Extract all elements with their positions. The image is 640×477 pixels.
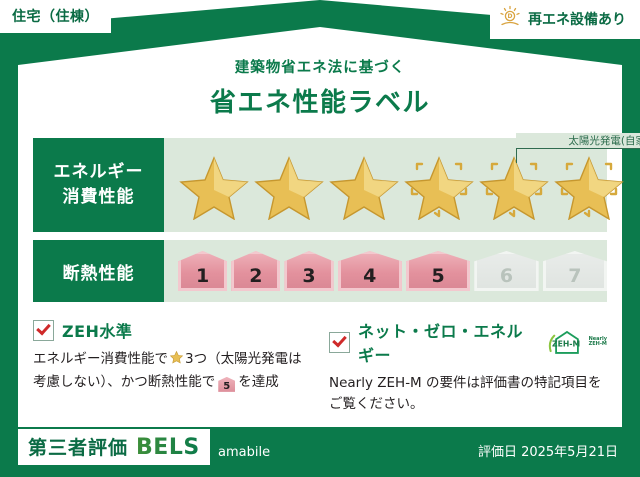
label-title: 建築物省エネ法に基づく 省エネ性能ラベル [0, 56, 640, 119]
criteria-net-zero-energy: ネット・ゼロ・エネルギー ZEH-M Nearly ZEH-M Nearly Z… [329, 318, 607, 410]
solar-sun-icon: D [498, 5, 522, 33]
insulation-level-7: 7 [543, 251, 607, 291]
star-3 [328, 149, 400, 221]
criteria-zeh-standard: ZEH水準 エネルギー消費性能で3つ（太陽光発電は考慮しない）、かつ断熱性能で5… [33, 318, 311, 410]
insulation-level-1: 1 [178, 251, 227, 291]
evaluation-date: 評価日 2025年5月21日 [478, 441, 618, 460]
insulation-row-label: 断熱性能 [33, 240, 164, 302]
energy-label-line1: エネルギー [54, 160, 144, 185]
insulation-scale: 1234567 [164, 240, 607, 302]
energy-row-label: エネルギー 消費性能 [33, 138, 164, 232]
energy-performance-label: 住宅（住棟） D 再エネ設備あり 建築物省エネ法に基づく 省エネ性能ラベル エネ… [0, 0, 640, 477]
svg-text:D: D [508, 13, 513, 20]
solar-bracket [516, 148, 640, 163]
insulation-level-5: 5 [406, 251, 470, 291]
net-zero-header: ネット・ゼロ・エネルギー ZEH-M Nearly ZEH-M [329, 318, 607, 366]
building-type-tag: 住宅（住棟） [0, 0, 111, 33]
svg-text:ZEH-M: ZEH-M [552, 340, 580, 349]
insulation-row-body: 1234567 [164, 240, 607, 302]
zeh-m-logo-sub2: ZEH-M [589, 342, 607, 347]
net-zero-checkbox-icon [329, 332, 350, 353]
title-subtitle: 建築物省エネ法に基づく [0, 56, 640, 77]
zeh-m-logo-icon: ZEH-M Nearly ZEH-M [547, 329, 607, 355]
zeh-standard-title: ZEH水準 [62, 318, 132, 342]
insulation-label-text: 断熱性能 [63, 259, 135, 284]
criteria-sections: ZEH水準 エネルギー消費性能で3つ（太陽光発電は考慮しない）、かつ断熱性能で5… [33, 318, 607, 410]
star-4 [403, 149, 475, 221]
net-zero-body: Nearly ZEH-M の要件は評価書の特記項目をご覧ください。 [329, 373, 607, 415]
star-2 [253, 149, 325, 221]
energy-consumption-row: エネルギー 消費性能 [33, 138, 607, 232]
title-main: 省エネ性能ラベル [0, 82, 640, 119]
insulation-badge-inline: 5 [218, 377, 235, 392]
renewable-equipment-tag: D 再エネ設備あり [490, 0, 640, 39]
energy-label-line2: 消費性能 [63, 185, 135, 210]
net-zero-title: ネット・ゼロ・エネルギー [358, 318, 535, 366]
zeh-standard-checkbox-icon [33, 320, 54, 341]
insulation-level-2: 2 [231, 251, 280, 291]
owner-name: amabile [218, 445, 270, 460]
energy-row-body: 太陽光発電(自家消費)分 [164, 138, 607, 232]
solar-bracket-label: 太陽光発電(自家消費)分 [516, 133, 640, 148]
zeh-body-part1: エネルギー消費性能で [33, 351, 168, 367]
star-1 [178, 149, 250, 221]
zeh-standard-header: ZEH水準 [33, 318, 311, 342]
third-party-label: 第三者評価 [28, 433, 128, 460]
insulation-row: 断熱性能 1234567 [33, 240, 607, 302]
bels-footer-box: 第三者評価 BELS [18, 429, 210, 465]
insulation-level-4: 4 [338, 251, 402, 291]
insulation-level-3: 3 [284, 251, 333, 291]
insulation-level-6: 6 [474, 251, 538, 291]
renewable-tag-label: 再エネ設備あり [528, 9, 626, 29]
star-icon [169, 350, 184, 372]
zeh-body-part3: を達成 [238, 374, 279, 390]
bels-logo-text: BELS [136, 435, 200, 460]
zeh-standard-body: エネルギー消費性能で3つ（太陽光発電は考慮しない）、かつ断熱性能で5を達成 [33, 349, 311, 393]
